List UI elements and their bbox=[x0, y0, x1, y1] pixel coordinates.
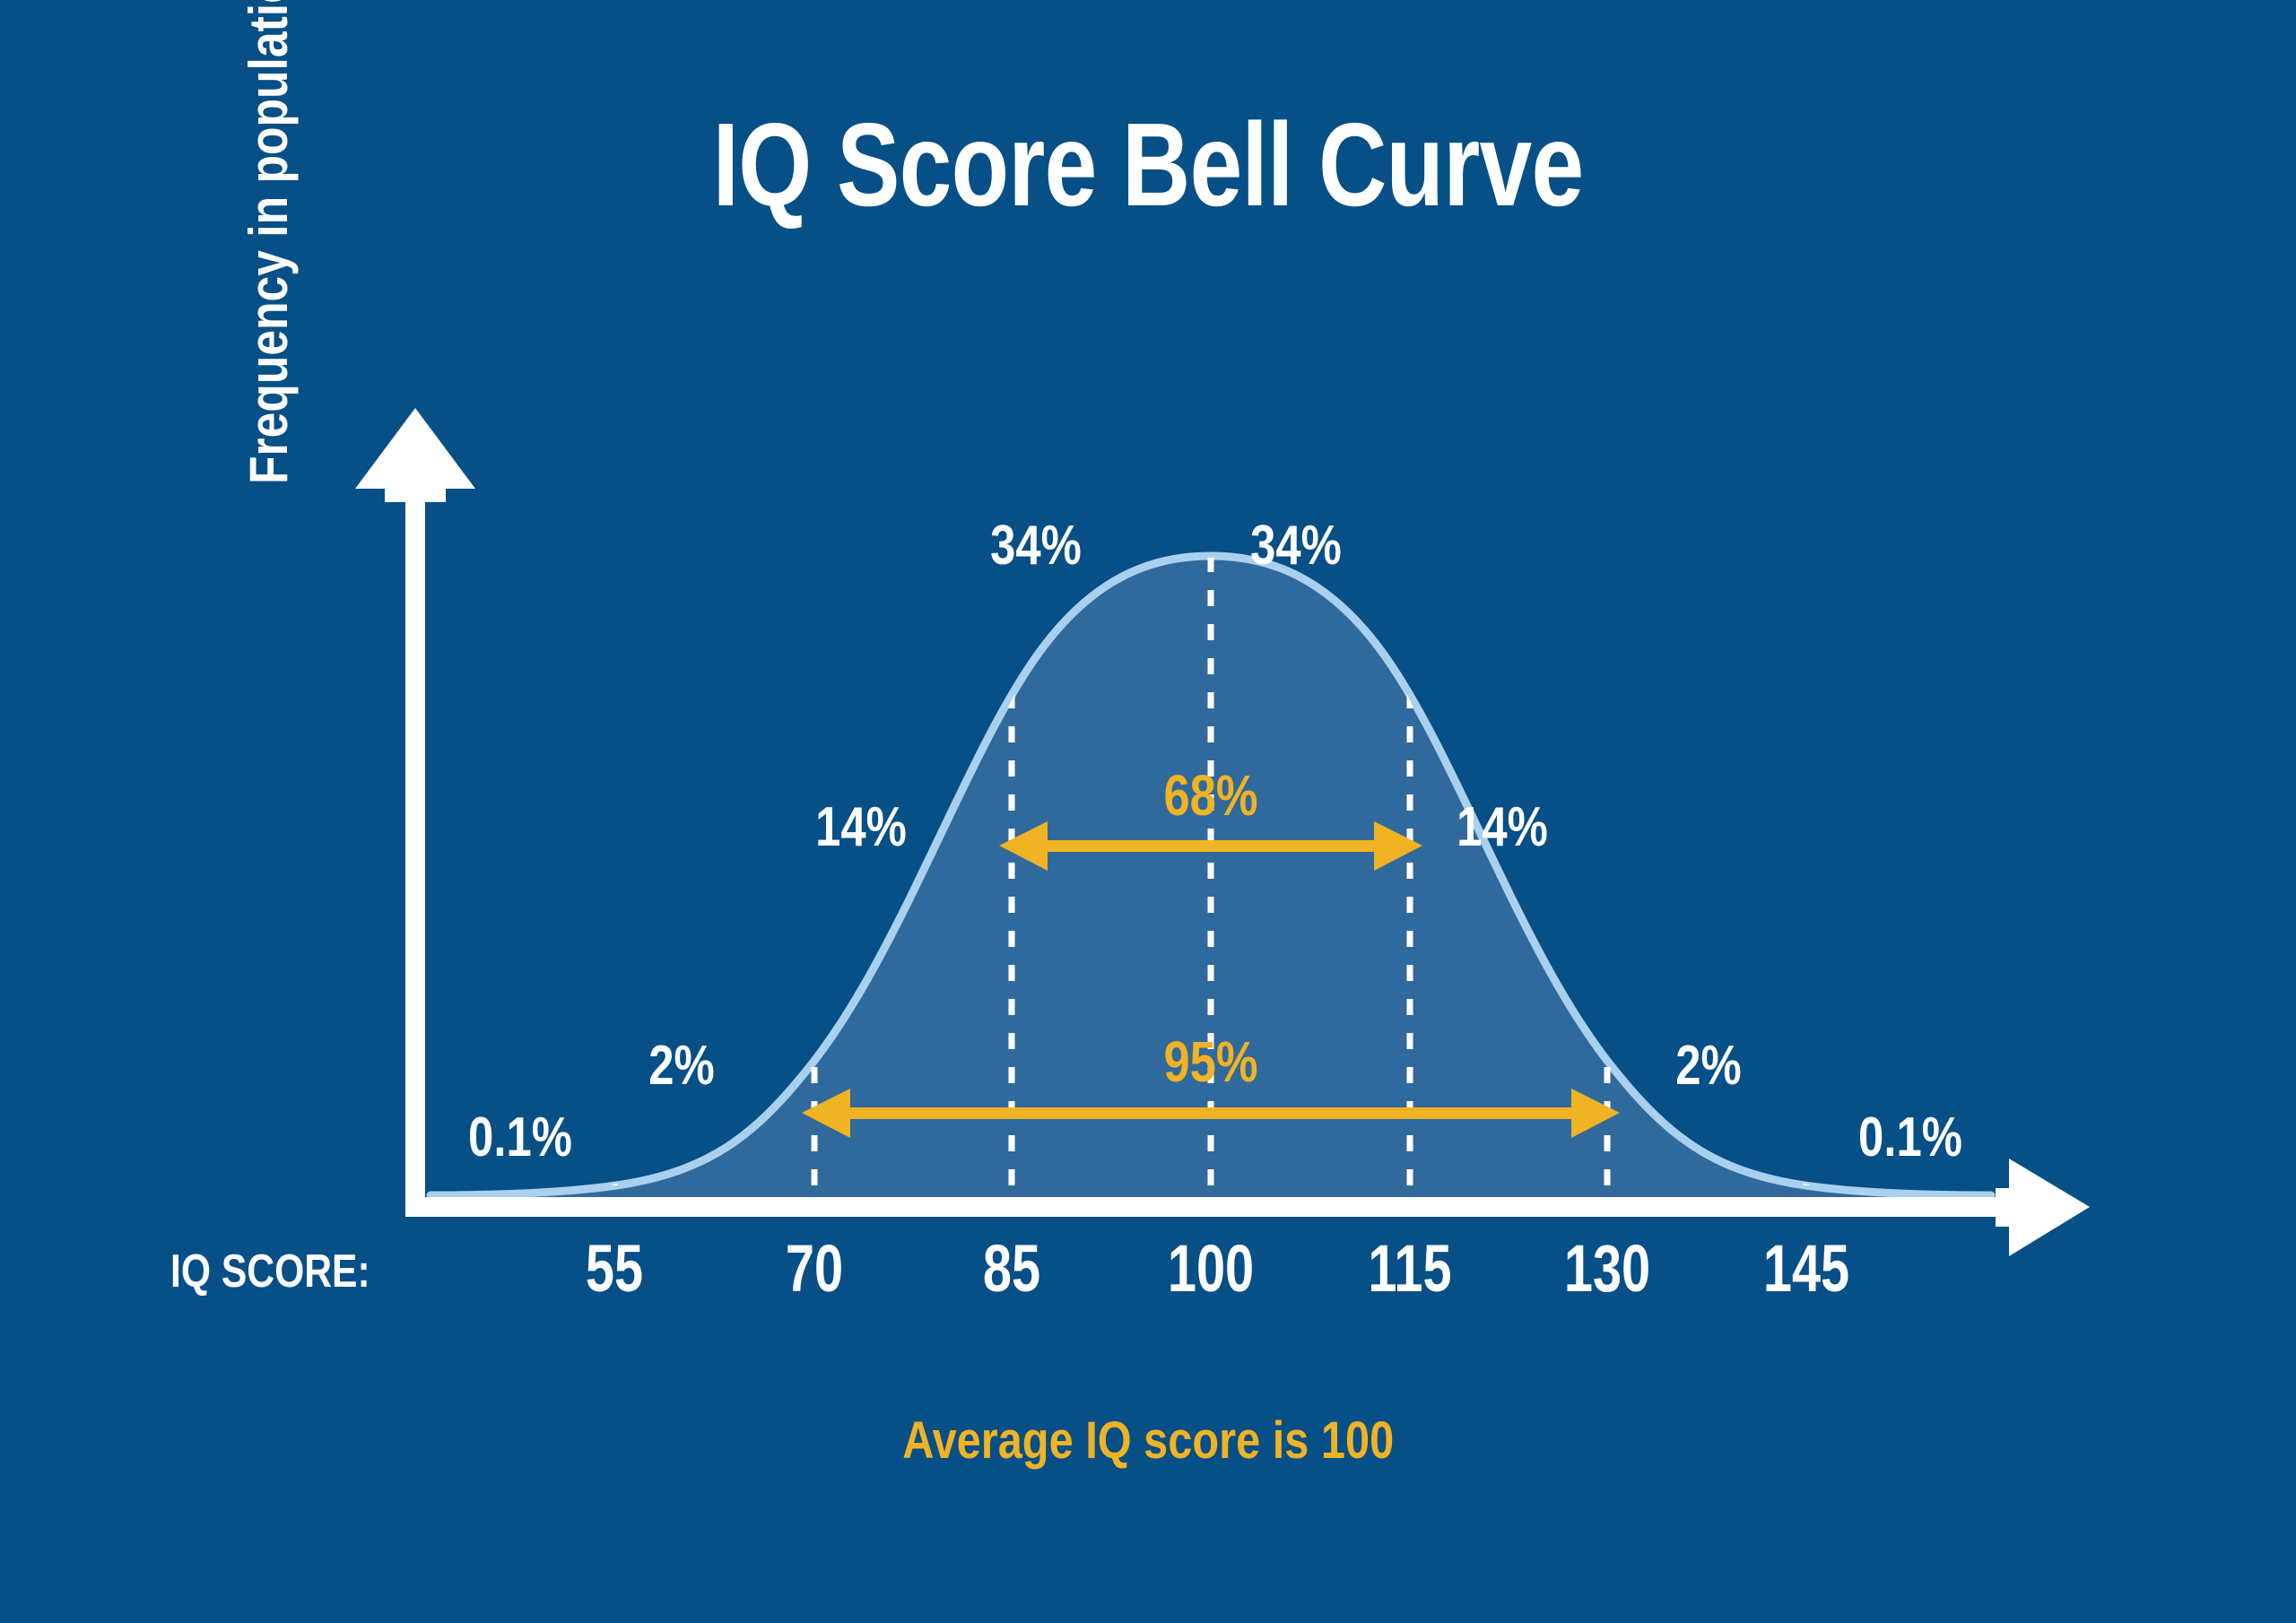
y-axis-label: Frequency in population bbox=[242, 0, 296, 484]
span-label-68: 68% bbox=[1130, 767, 1291, 824]
pct-label-left-34: 34% bbox=[952, 518, 1121, 574]
y-axis bbox=[355, 408, 475, 1206]
footer-caption-text: Average IQ score is 100 bbox=[902, 1415, 1394, 1467]
pct-label-right-2: 2% bbox=[1635, 1038, 1782, 1094]
chart-canvas: IQ Score Bell Curve bbox=[0, 0, 2296, 1623]
xtick-70: 70 bbox=[744, 1236, 884, 1302]
xtick-130: 130 bbox=[1537, 1236, 1677, 1302]
x-axis-caption: IQ SCORE: bbox=[170, 1248, 370, 1295]
pct-label-left-2: 2% bbox=[608, 1038, 755, 1094]
xtick-100: 100 bbox=[1141, 1236, 1281, 1302]
span-label-95: 95% bbox=[1130, 1033, 1291, 1090]
pct-label-right-34: 34% bbox=[1212, 518, 1381, 574]
xtick-115: 115 bbox=[1340, 1236, 1480, 1302]
xtick-85: 85 bbox=[942, 1236, 1082, 1302]
xtick-145: 145 bbox=[1736, 1236, 1876, 1302]
footer-caption: Average IQ score is 100 bbox=[0, 1415, 2296, 1467]
pct-label-left-14: 14% bbox=[777, 800, 946, 855]
pct-label-left-tail: 0.1% bbox=[432, 1110, 609, 1166]
pct-label-right-tail: 0.1% bbox=[1822, 1110, 1999, 1166]
xtick-55: 55 bbox=[544, 1236, 684, 1302]
pct-label-right-14: 14% bbox=[1418, 800, 1587, 855]
